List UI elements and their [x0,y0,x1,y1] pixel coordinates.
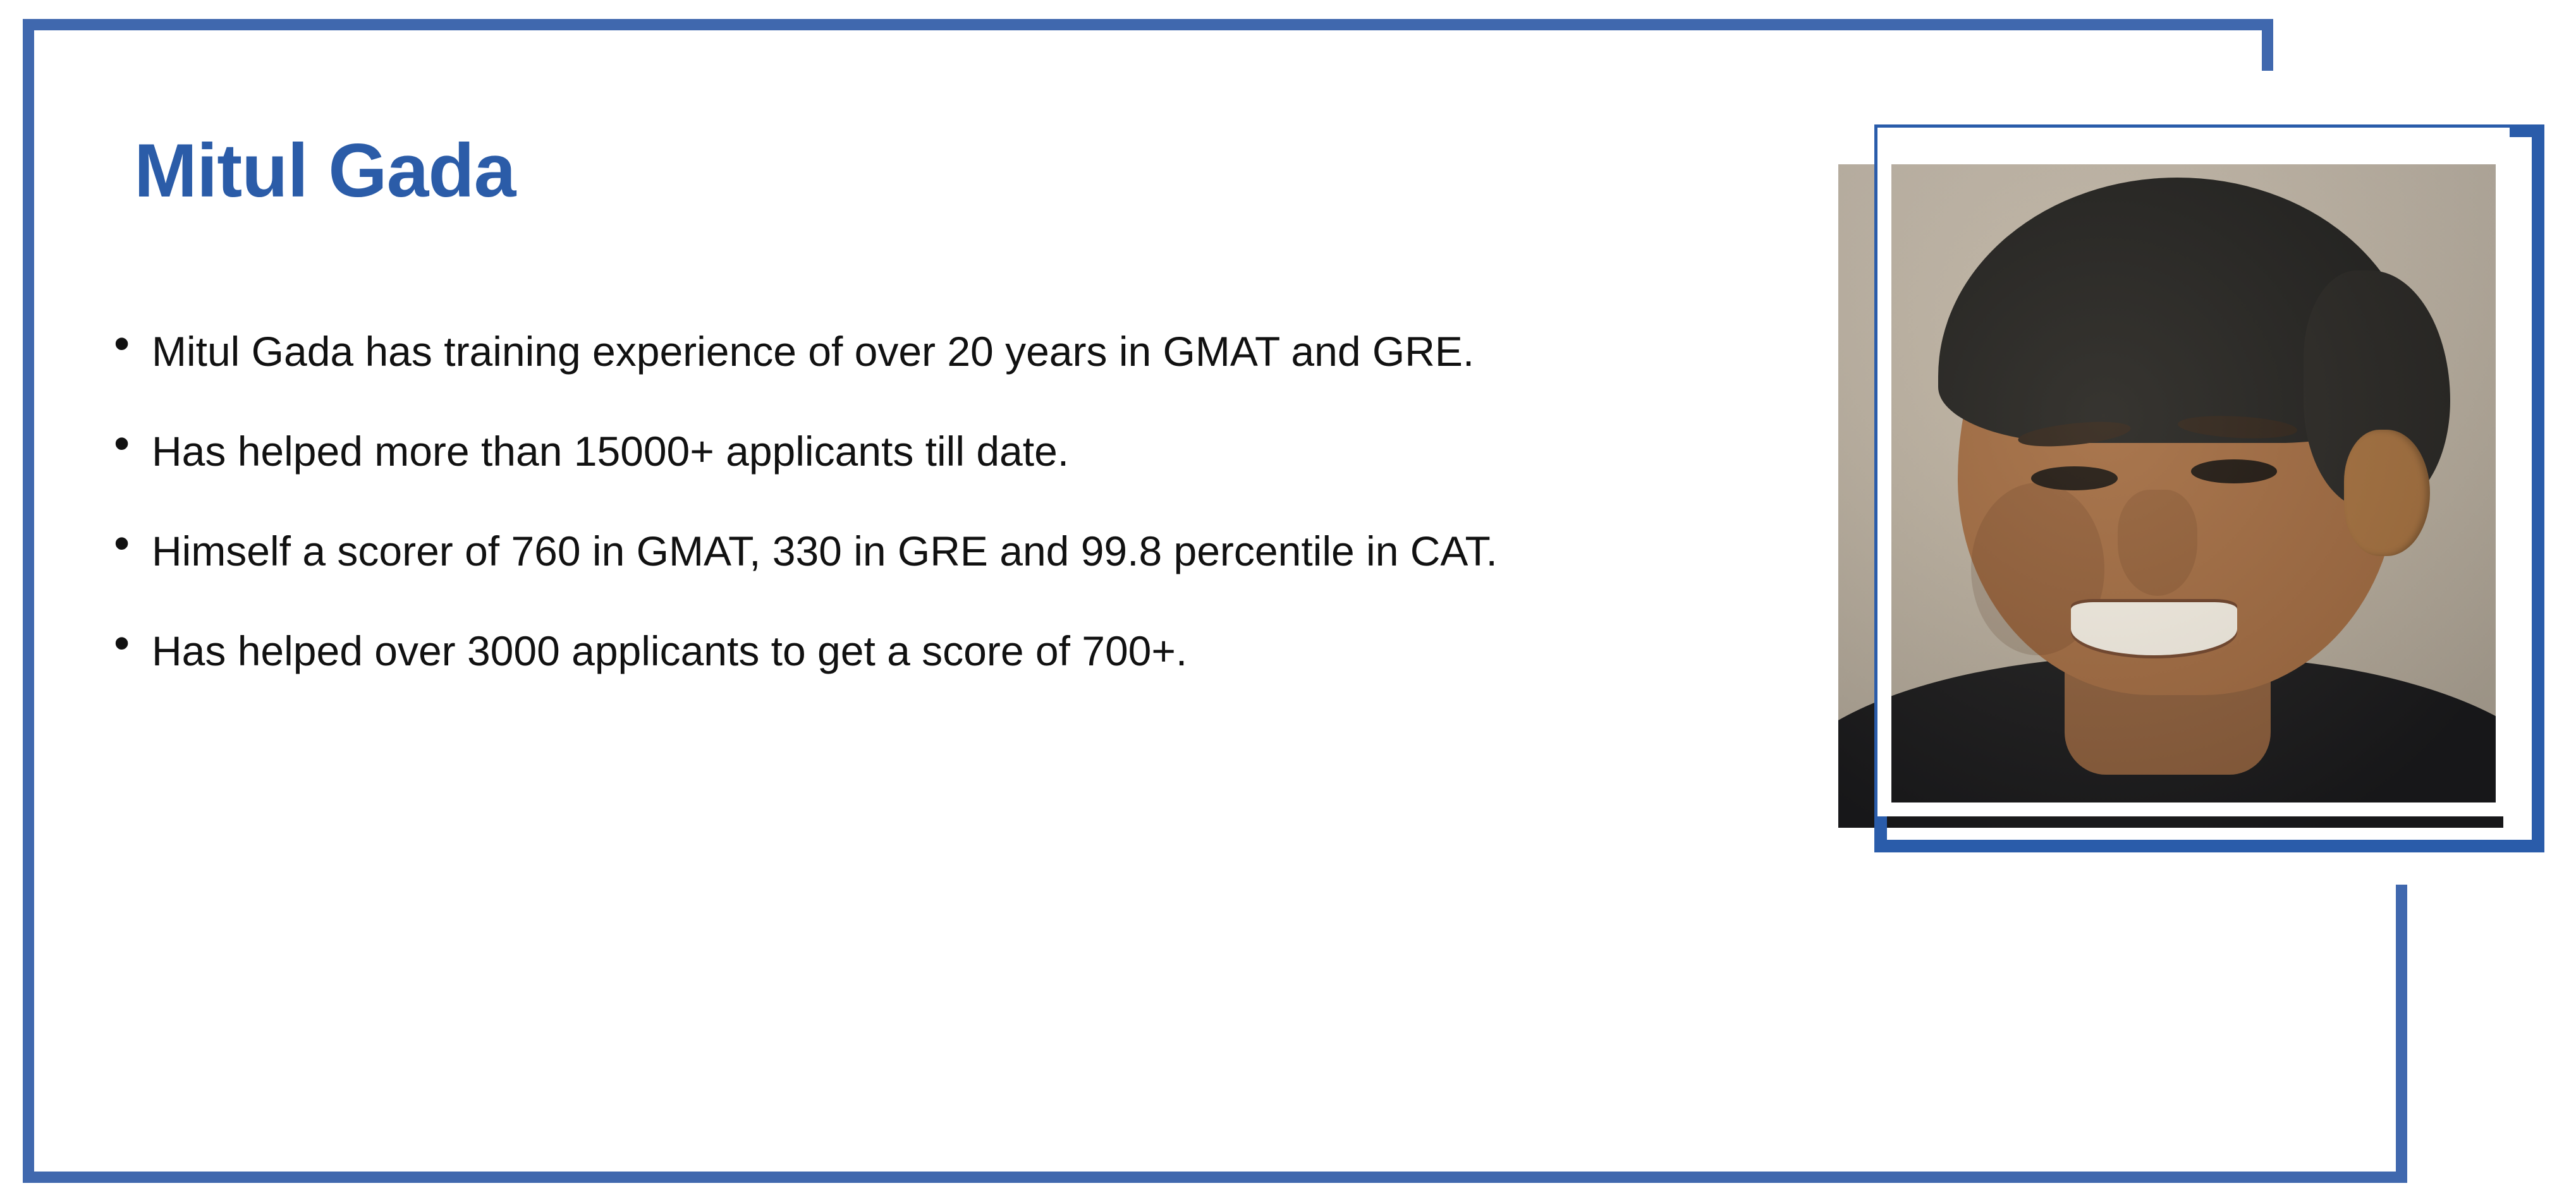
outer-frame-left-bar [23,19,34,1183]
outer-frame-right-upper-bar [2262,19,2273,71]
list-item-text: Himself a scorer of 760 in GMAT, 330 in … [152,516,1751,586]
photo-frame-white-outline [1877,128,2510,816]
bullet-point-icon: • [95,316,152,372]
list-item: • Has helped over 3000 applicants to get… [95,615,1751,686]
bullet-point-icon: • [95,615,152,671]
profile-slide: Mitul Gada • Mitul Gada has training exp… [0,0,2576,1193]
list-item: • Himself a scorer of 760 in GMAT, 330 i… [95,516,1751,586]
list-item: • Mitul Gada has training experience of … [95,316,1751,387]
outer-frame-bottom-bar [23,1172,2407,1183]
list-item-text: Has helped over 3000 applicants to get a… [152,615,1751,686]
outer-frame-top-bar [23,19,2273,30]
portrait-block [1838,114,2553,828]
list-item-text: Mitul Gada has training experience of ov… [152,316,1751,387]
list-item-text: Has helped more than 15000+ applicants t… [152,416,1751,487]
list-item: • Has helped more than 15000+ applicants… [95,416,1751,487]
outer-frame-right-lower-bar [2396,885,2407,1183]
bullet-point-icon: • [95,516,152,571]
bullet-point-icon: • [95,416,152,471]
page-title: Mitul Gada [134,133,515,209]
bullet-list: • Mitul Gada has training experience of … [95,316,1751,715]
